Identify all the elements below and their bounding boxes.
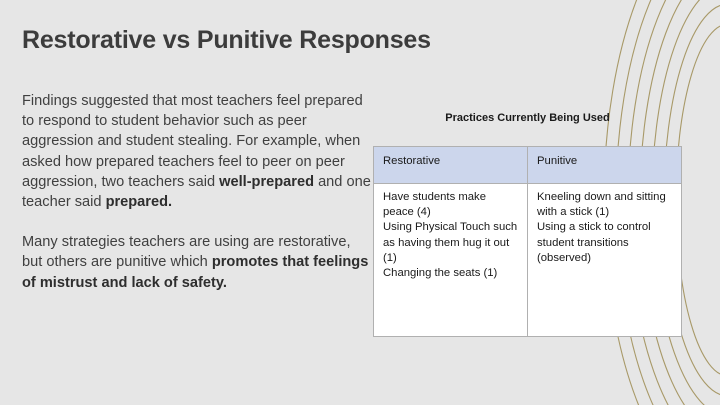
list-item: Kneeling down and sitting with a stick (… bbox=[537, 190, 673, 220]
column-header-restorative: Restorative bbox=[374, 147, 528, 184]
slide-canvas: Restorative vs Punitive Responses Findin… bbox=[0, 0, 720, 405]
column-header-punitive: Punitive bbox=[528, 147, 682, 184]
body-paragraph-1: Findings suggested that most teachers fe… bbox=[22, 91, 374, 212]
table-row: Have students make peace (4) Using Physi… bbox=[374, 184, 682, 337]
paragraph-1-emphasis-well-prepared: well-prepared bbox=[219, 174, 314, 190]
list-item: Using a stick to control student transit… bbox=[537, 220, 673, 266]
cell-restorative-practices: Have students make peace (4) Using Physi… bbox=[374, 184, 528, 337]
body-paragraph-2: Many strategies teachers are using are r… bbox=[22, 232, 374, 293]
table-body: Have students make peace (4) Using Physi… bbox=[374, 184, 682, 337]
table-caption: Practices Currently Being Used bbox=[373, 112, 682, 124]
table-header: Restorative Punitive bbox=[374, 147, 682, 184]
cell-punitive-practices: Kneeling down and sitting with a stick (… bbox=[528, 184, 682, 337]
list-item: Have students make peace (4) bbox=[383, 190, 519, 220]
list-item: Using Physical Touch such as having them… bbox=[383, 220, 519, 266]
body-text-block: Findings suggested that most teachers fe… bbox=[22, 91, 374, 293]
page-title: Restorative vs Punitive Responses bbox=[22, 26, 431, 55]
paragraph-1-emphasis-prepared: prepared. bbox=[106, 194, 173, 210]
list-item: Changing the seats (1) bbox=[383, 266, 519, 281]
table-header-row: Restorative Punitive bbox=[374, 147, 682, 184]
practices-table: Restorative Punitive Have students make … bbox=[373, 146, 682, 337]
